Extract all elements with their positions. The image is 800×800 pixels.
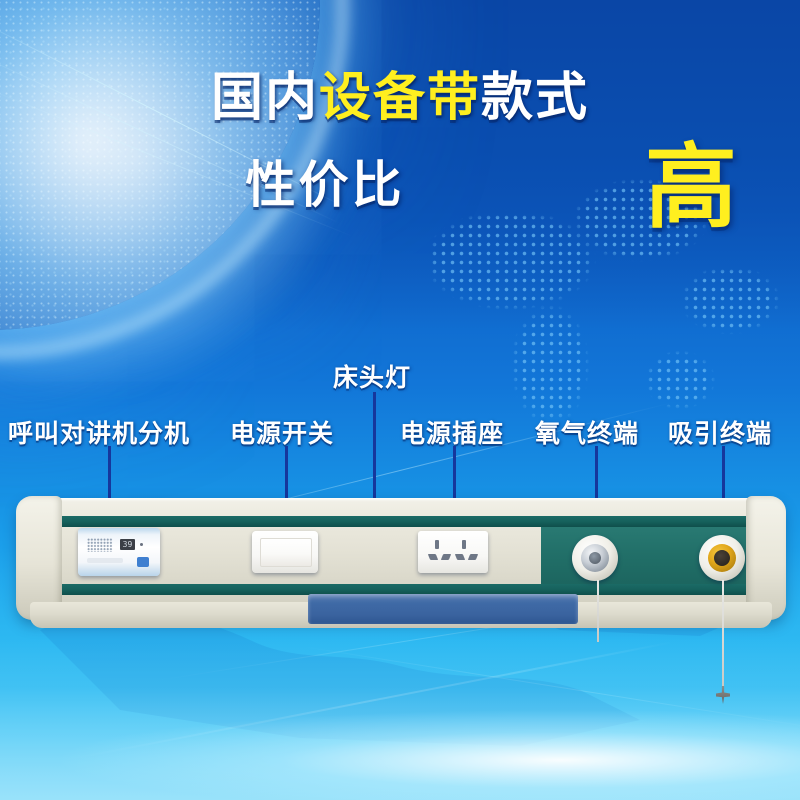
callout-label-power-switch: 电源开关 — [230, 414, 334, 450]
oxygen-cord — [597, 580, 599, 642]
suction-terminal-port-icon — [714, 550, 730, 566]
callout-label-oxygen-terminal: 氧气终端 — [535, 414, 639, 450]
callout-label-suction-terminal: 吸引终端 — [668, 414, 772, 450]
callout-label-power-socket: 电源插座 — [400, 414, 504, 450]
socket-pin-a — [428, 554, 438, 560]
socket-pin-live-left — [435, 540, 439, 549]
power-switch-unit[interactable] — [252, 531, 318, 573]
socket-pin-b — [441, 554, 451, 560]
intercom-call-button[interactable] — [137, 557, 149, 567]
poster-canvas: 国内设备带款式 性价比 高 呼叫对讲机分机 电源开关 床头灯 电源插座 氧气终端… — [0, 0, 800, 800]
oxygen-terminal-outlet[interactable] — [572, 535, 618, 581]
suction-pull-cord — [722, 580, 724, 690]
socket-pin-c — [455, 554, 465, 560]
socket-pin-live-right — [462, 540, 466, 549]
suction-terminal-outlet[interactable] — [699, 535, 745, 581]
panel-stripe-top — [52, 516, 752, 527]
intercom-display: 39 — [120, 539, 135, 550]
nurse-call-intercom-unit[interactable]: 39 — [78, 528, 160, 576]
intercom-slot — [87, 558, 123, 563]
callout-label-bed-lamp: 床头灯 — [333, 358, 411, 394]
callout-label-nurse-call-intercom: 呼叫对讲机分机 — [8, 414, 190, 450]
speaker-grille-icon — [87, 538, 113, 552]
oxygen-terminal-port-icon — [589, 552, 601, 564]
indicator-led-icon — [140, 543, 143, 546]
power-socket-unit[interactable] — [418, 531, 488, 573]
bed-lamp-diffuser — [308, 594, 578, 624]
socket-pin-d — [468, 554, 478, 560]
rocker-switch-icon[interactable] — [260, 538, 312, 567]
callout-layer: 呼叫对讲机分机 电源开关 床头灯 电源插座 氧气终端 吸引终端 — [0, 0, 800, 800]
